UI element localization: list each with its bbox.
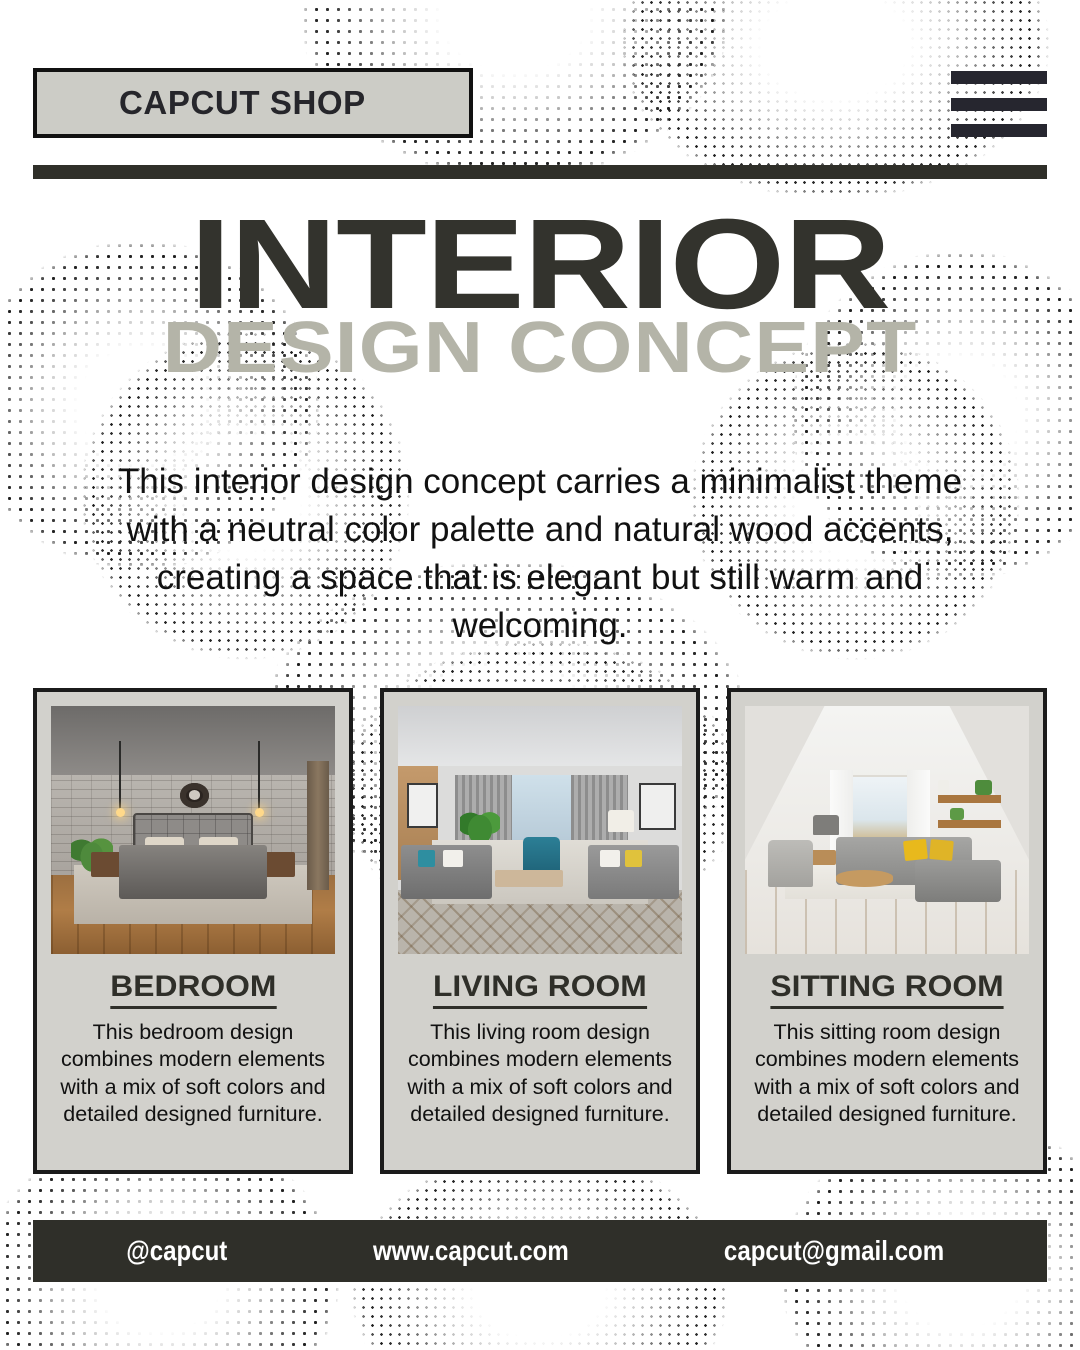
bedroom-bed <box>119 845 267 900</box>
footer-social-handle[interactable]: @capcut <box>126 1235 227 1267</box>
hamburger-menu-icon[interactable] <box>951 71 1047 137</box>
bedroom-ceiling <box>51 706 335 780</box>
sitting-armchair <box>768 840 813 887</box>
living-pillow-white-left <box>443 850 463 867</box>
hamburger-bar-2 <box>951 98 1047 111</box>
sitting-chaise <box>915 860 1000 902</box>
bedroom-curtain <box>307 761 330 890</box>
footer-website[interactable]: www.capcut.com <box>373 1235 569 1267</box>
bedroom-interior-photo <box>51 706 335 954</box>
living-floor-lamp <box>608 810 634 832</box>
contact-footer-bar: @capcut www.capcut.com capcut@gmail.com <box>33 1220 1047 1282</box>
room-card-living-room[interactable]: LIVING ROOM This living room design comb… <box>380 688 700 1174</box>
room-card-title: LIVING ROOM <box>433 971 647 1009</box>
living-room-interior-photo <box>398 706 682 954</box>
header-divider-rule <box>33 165 1047 179</box>
room-card-bedroom[interactable]: BEDROOM This bedroom design combines mod… <box>33 688 353 1174</box>
page-header: CAPCUT SHOP <box>33 68 1047 178</box>
sitting-floor-lamp <box>813 815 839 835</box>
page-title-main: INTERIOR <box>0 206 1080 324</box>
sitting-round-coffee-table <box>836 870 893 887</box>
room-cards-row: BEDROOM This bedroom design combines mod… <box>33 688 1047 1174</box>
sitting-vase <box>938 780 949 795</box>
poster-canvas: CAPCUT SHOP INTERIOR DESIGN CONCEPT This… <box>0 0 1080 1350</box>
living-ceiling <box>398 706 682 770</box>
bedroom-round-mirror <box>180 783 208 808</box>
room-card-sitting-room[interactable]: SITTING ROOM This sitting room design co… <box>727 688 1047 1174</box>
room-card-title: BEDROOM <box>110 971 276 1009</box>
room-card-title: SITTING ROOM <box>770 971 1003 1009</box>
sitting-shelf-lower <box>938 820 1000 827</box>
sitting-shelf-upper <box>938 795 1000 802</box>
living-artwork-right <box>639 783 676 830</box>
bedroom-pendant-cord-left <box>119 741 121 810</box>
sitting-plant-upper <box>975 780 992 795</box>
living-pillow-yellow <box>625 850 642 867</box>
living-coffee-table <box>495 870 563 887</box>
title-block: INTERIOR DESIGN CONCEPT <box>0 206 1080 384</box>
hamburger-bar-3 <box>951 124 1047 137</box>
living-pillow-teal <box>418 850 435 867</box>
sitting-room-interior-photo <box>745 706 1029 954</box>
shop-name-badge[interactable]: CAPCUT SHOP <box>33 68 473 138</box>
intro-paragraph: This interior design concept carries a m… <box>90 458 990 650</box>
hamburger-bar-1 <box>951 71 1047 84</box>
room-card-description: This living room design combines modern … <box>398 1019 682 1129</box>
bedroom-pendant-bulb-left <box>116 808 125 817</box>
bedroom-pendant-cord-right <box>258 741 260 810</box>
room-card-description: This sitting room design combines modern… <box>745 1019 1029 1129</box>
page-title-sub: DESIGN CONCEPT <box>0 312 1080 384</box>
sitting-pillow-yellow-2 <box>929 839 953 861</box>
living-pillow-white-right <box>600 850 620 867</box>
footer-email[interactable]: capcut@gmail.com <box>724 1235 944 1267</box>
living-artwork-left <box>407 783 438 828</box>
room-card-description: This bedroom design combines modern elem… <box>51 1019 335 1129</box>
shop-name-label: CAPCUT SHOP <box>37 84 366 122</box>
sitting-plant-lower <box>950 808 964 820</box>
sitting-pillow-yellow-1 <box>903 839 928 861</box>
